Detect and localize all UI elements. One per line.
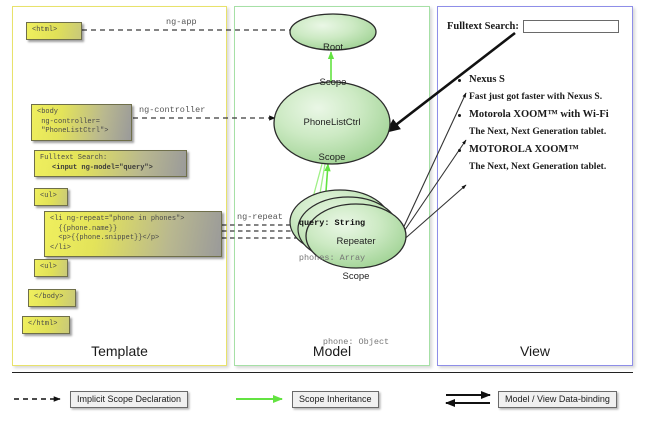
bullet-icon [458, 149, 461, 152]
ng-app-label: ng-app [166, 17, 197, 27]
legend-implicit-scope-declaration-label: Implicit Scope Declaration [70, 391, 188, 408]
html-close-box[interactable]: </html> [22, 316, 70, 334]
list-item-title-text: Nexus S [469, 74, 505, 85]
list-item[interactable]: MOTOROLA XOOM™ The Next, Next Generation… [455, 144, 627, 172]
legend: Implicit Scope Declaration Scope Inherit… [0, 380, 645, 422]
legend-implicit-scope-declaration: Implicit Scope Declaration [12, 390, 188, 408]
list-item-title: Motorola XOOM™ with Wi-Fi [455, 109, 627, 120]
list-item[interactable]: Motorola XOOM™ with Wi-Fi The Next, Next… [455, 109, 627, 137]
view-content: Fulltext Search: Nexus S Fast just got f… [443, 12, 628, 312]
ul-open-box[interactable]: <ul> [34, 188, 68, 206]
search-input-box-line1: Fulltext Search: [40, 154, 107, 162]
list-item-title: MOTOROLA XOOM™ [455, 144, 627, 155]
li-repeat-box[interactable]: <li ng-repeat="phone in phones"> {{phone… [44, 211, 222, 257]
list-item-snippet: The Next, Next Generation tablet. [455, 162, 627, 172]
bullet-icon [458, 114, 461, 117]
phone-list: Nexus S Fast just got faster with Nexus … [455, 74, 627, 179]
ul-close-box[interactable]: <ul> [34, 259, 68, 277]
root-scope-line1: Root [293, 42, 373, 54]
double-arrow-icon [440, 390, 498, 408]
panel-template-label: Template [13, 343, 226, 359]
search-input-box-line2: <input ng-model="query"> [40, 164, 153, 172]
view-search-row: Fulltext Search: [447, 20, 619, 33]
search-input-box[interactable]: Fulltext Search: <input ng-model="query"… [34, 150, 187, 177]
ng-controller-label: ng-controller [139, 105, 205, 115]
legend-scope-inheritance: Scope Inheritance [234, 390, 379, 408]
body-close-box[interactable]: </body> [28, 289, 76, 307]
body-tag-box[interactable]: <body ng-controller= "PhoneListCtrl"> [31, 104, 132, 141]
panel-template: Template [12, 6, 227, 366]
list-item-title-text: Motorola XOOM™ with Wi-Fi [469, 109, 609, 120]
legend-data-binding: Model / View Data-binding [440, 390, 617, 408]
list-item-snippet: Fast just got faster with Nexus S. [455, 92, 627, 102]
green-arrow-icon [234, 390, 292, 408]
bullet-icon [458, 79, 461, 82]
list-item[interactable]: Nexus S Fast just got faster with Nexus … [455, 74, 627, 102]
html-tag-box[interactable]: <html> [26, 22, 82, 40]
diagram-canvas: Template Model View [0, 0, 645, 425]
repeater-prop-phone: phone: Object [306, 337, 406, 349]
repeater-scope-line2: Scope [306, 271, 406, 283]
dashed-arrow-icon [12, 390, 70, 408]
list-item-title: Nexus S [455, 74, 627, 85]
legend-scope-inheritance-label: Scope Inheritance [292, 391, 379, 408]
repeater-scope-label: Repeater Scope phone: Object [306, 213, 406, 372]
list-item-snippet: The Next, Next Generation tablet. [455, 127, 627, 137]
ng-repeat-label: ng-repeat [237, 212, 283, 222]
view-search-label: Fulltext Search: [447, 21, 519, 32]
fulltext-search-input[interactable] [523, 20, 619, 33]
legend-data-binding-label: Model / View Data-binding [498, 391, 617, 408]
root-scope-line2: Scope [293, 77, 373, 89]
repeater-scope-line1: Repeater [306, 236, 406, 248]
list-item-title-text: MOTOROLA XOOM™ [469, 144, 579, 155]
panel-view-label: View [438, 343, 632, 359]
phonelistctrl-scope-line1: PhoneListCtrl [277, 117, 387, 129]
phonelistctrl-scope-line2: Scope [277, 152, 387, 164]
legend-separator [12, 372, 633, 373]
